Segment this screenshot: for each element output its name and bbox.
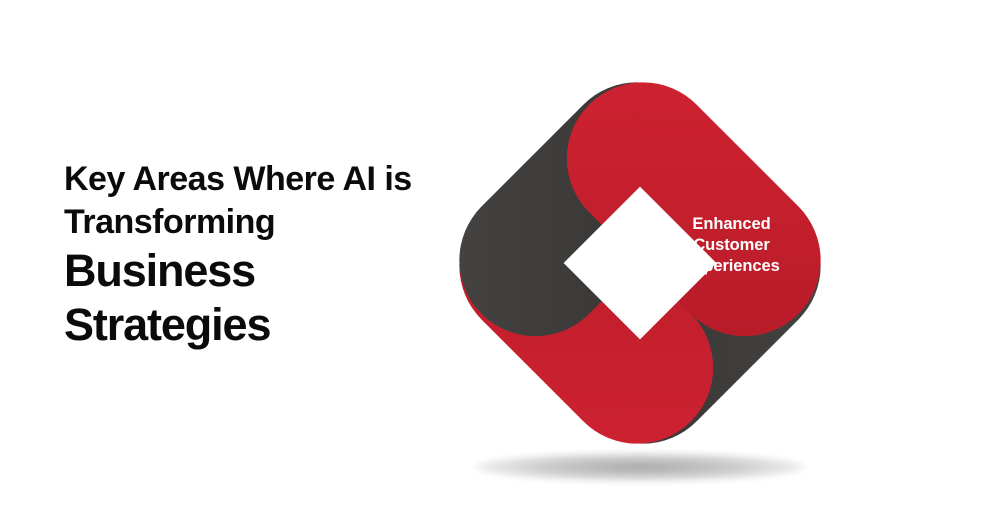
diagram-stage: Operational Efficiency Informed Strategi… [425,48,855,478]
page-title: Key Areas Where AI is Transforming Busin… [64,158,464,352]
title-line-4: Strategies [64,298,464,352]
title-line-2: Transforming [64,201,464,244]
diamond-pinwheel-diagram: Operational Efficiency Informed Strategi… [425,48,855,478]
title-line-1: Key Areas Where AI is [64,158,464,201]
title-line-3: Business [64,244,464,298]
infographic-canvas: Key Areas Where AI is Transforming Busin… [0,0,1000,523]
